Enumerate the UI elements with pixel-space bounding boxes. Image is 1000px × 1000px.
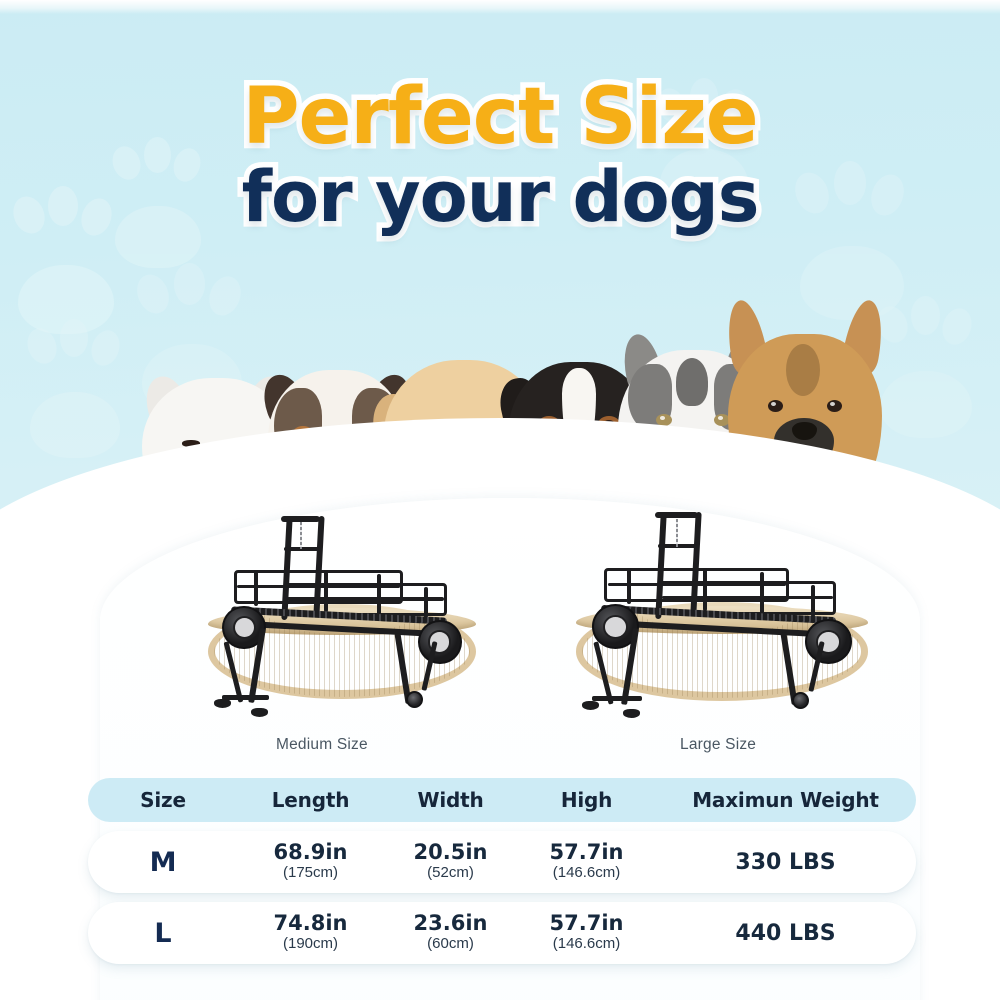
leveling-foot (582, 701, 599, 710)
leash-chain (300, 522, 302, 549)
leveling-foot (623, 709, 640, 718)
row-max-weight: 440 LBS (735, 921, 835, 946)
leash-chain (676, 519, 678, 547)
row-high-cm: (146.6cm) (518, 864, 655, 883)
roller-right (418, 620, 462, 664)
side-rail-near-mid (662, 596, 834, 600)
rail-upright (254, 570, 258, 605)
rail-upright (703, 568, 707, 611)
leg-brace-left (592, 696, 643, 701)
header-max-weight: Maximun Weight (655, 788, 916, 812)
spec-table-header-row: Size Length Width High Maximun Weight (88, 778, 916, 822)
rail-upright (760, 572, 764, 615)
handle-top-bar (655, 512, 698, 518)
rail-upright (811, 585, 815, 617)
rail-upright (377, 574, 381, 616)
infographic-page: Perfect Size for your dogs (0, 0, 1000, 1000)
leveling-foot (214, 699, 231, 708)
row-high-in: 57.7in (518, 841, 655, 864)
header-width: Width (383, 788, 518, 812)
header-high: High (518, 788, 655, 812)
row-width-cm: (52cm) (383, 864, 518, 883)
product-caption-medium: Medium Size (276, 736, 368, 754)
header-length: Length (238, 788, 383, 812)
table-row: L 74.8in (190cm) 23.6in (60cm) 57.7in (1… (88, 902, 916, 964)
row-high-in: 57.7in (518, 912, 655, 935)
product-medium-treadmill (196, 512, 488, 720)
row-length-cm: (190cm) (238, 935, 383, 954)
row-size-value: M (150, 847, 177, 878)
row-length-cm: (175cm) (238, 864, 383, 883)
row-width-in: 23.6in (383, 912, 518, 935)
side-rail-near-mid (287, 597, 445, 601)
headline-line-2: for your dogs (0, 162, 1000, 232)
row-width-cm: (60cm) (383, 935, 518, 954)
transport-wheel (792, 692, 809, 709)
row-width-in: 20.5in (383, 841, 518, 864)
rail-upright (627, 568, 631, 604)
headline-block: Perfect Size for your dogs (0, 78, 1000, 232)
handle-top-bar (281, 516, 320, 522)
table-row: M 68.9in (175cm) 20.5in (52cm) 57.7in (1… (88, 831, 916, 893)
leveling-foot (251, 708, 268, 717)
product-large-treadmill (563, 508, 881, 722)
row-size-value: L (154, 918, 171, 949)
row-length-in: 68.9in (238, 841, 383, 864)
top-fade (0, 0, 1000, 14)
headline-line-1: Perfect Size (0, 78, 1000, 156)
product-caption-large: Large Size (680, 736, 756, 754)
rail-upright (424, 587, 428, 618)
spec-table: Size Length Width High Maximun Weight M … (88, 778, 916, 964)
rail-upright (324, 570, 328, 612)
row-length-in: 74.8in (238, 912, 383, 935)
header-size: Size (88, 788, 238, 812)
row-high-cm: (146.6cm) (518, 935, 655, 954)
transport-wheel (406, 691, 423, 708)
row-max-weight: 330 LBS (735, 850, 835, 875)
